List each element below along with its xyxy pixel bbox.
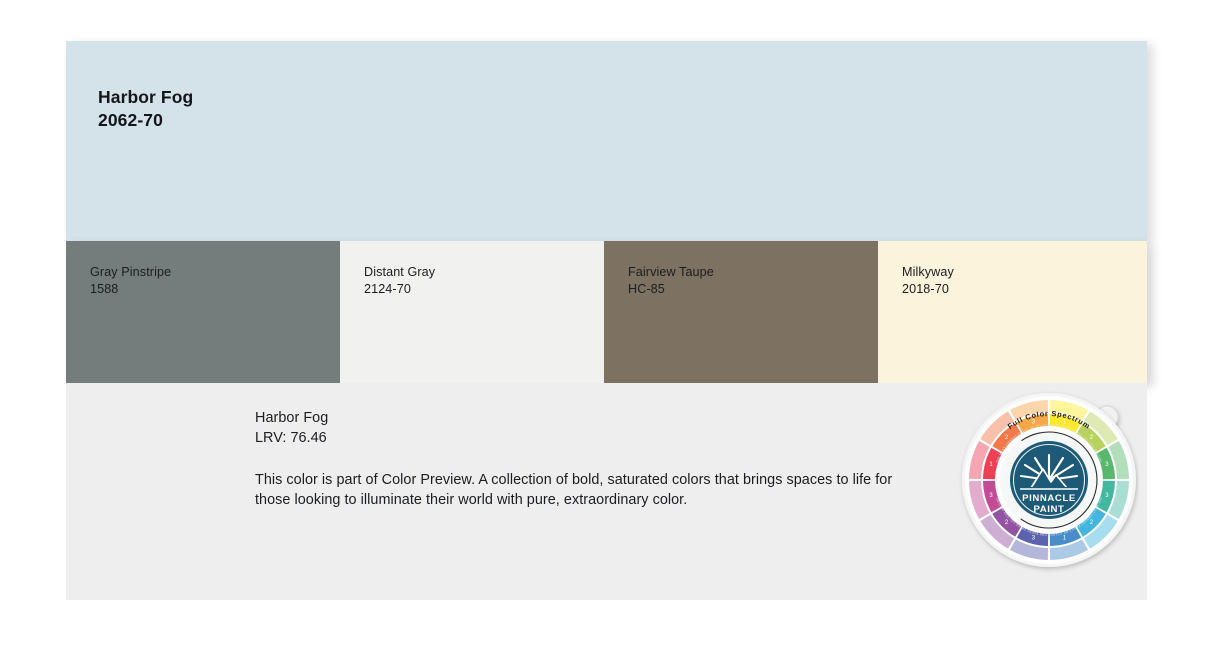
brand-name-line2: PAINT <box>1033 504 1064 515</box>
swatch-color-code: 2018-70 <box>902 281 954 298</box>
swatch-fairview-taupe[interactable]: Fairview Taupe HC-85 <box>604 241 878 383</box>
info-lrv-value: LRV: 76.46 <box>255 429 927 449</box>
hero-color-code: 2062-70 <box>98 109 193 132</box>
swatch-color-name: Fairview Taupe <box>628 264 714 281</box>
color-wheel-icon: 123321323123 Full Color Spectrum THE MOS… <box>959 384 1139 574</box>
swatch-distant-gray[interactable]: Distant Gray 2124-70 <box>340 241 604 383</box>
hero-color-name: Harbor Fog <box>98 86 193 109</box>
info-color-name: Harbor Fog <box>255 409 927 429</box>
swatch-gray-pinstripe[interactable]: Gray Pinstripe 1588 <box>66 241 340 383</box>
swatch-label: Gray Pinstripe 1588 <box>90 264 171 299</box>
color-info-text: Harbor Fog LRV: 76.46 This color is part… <box>255 409 927 511</box>
swatch-color-code: 1588 <box>90 281 171 298</box>
swatch-label: Fairview Taupe HC-85 <box>628 264 714 299</box>
color-info-panel: Harbor Fog LRV: 76.46 This color is part… <box>66 383 1147 600</box>
info-description: This color is part of Color Preview. A c… <box>255 470 927 511</box>
color-detail-card: Harbor Fog 2062-70 Gray Pinstripe 1588 D… <box>66 41 1147 600</box>
swatch-color-name: Milkyway <box>902 264 954 281</box>
hero-color-panel: Harbor Fog 2062-70 <box>66 41 1147 241</box>
swatch-color-code: 2124-70 <box>364 281 435 298</box>
info-heading: Harbor Fog LRV: 76.46 <box>255 409 927 449</box>
hero-color-label: Harbor Fog 2062-70 <box>98 86 193 132</box>
coordinating-colors-row: Gray Pinstripe 1588 Distant Gray 2124-70… <box>66 241 1147 383</box>
swatch-label: Milkyway 2018-70 <box>902 264 954 299</box>
page-root: Harbor Fog 2062-70 Gray Pinstripe 1588 D… <box>0 0 1211 656</box>
swatch-color-name: Distant Gray <box>364 264 435 281</box>
brand-name-line1: PINNACLE <box>1022 493 1076 504</box>
swatch-milkyway[interactable]: Milkyway 2018-70 <box>878 241 1147 383</box>
swatch-color-code: HC-85 <box>628 281 714 298</box>
pinnacle-paint-color-wheel-logo: 123321323123 Full Color Spectrum THE MOS… <box>959 384 1139 574</box>
swatch-label: Distant Gray 2124-70 <box>364 264 435 299</box>
swatch-color-name: Gray Pinstripe <box>90 264 171 281</box>
